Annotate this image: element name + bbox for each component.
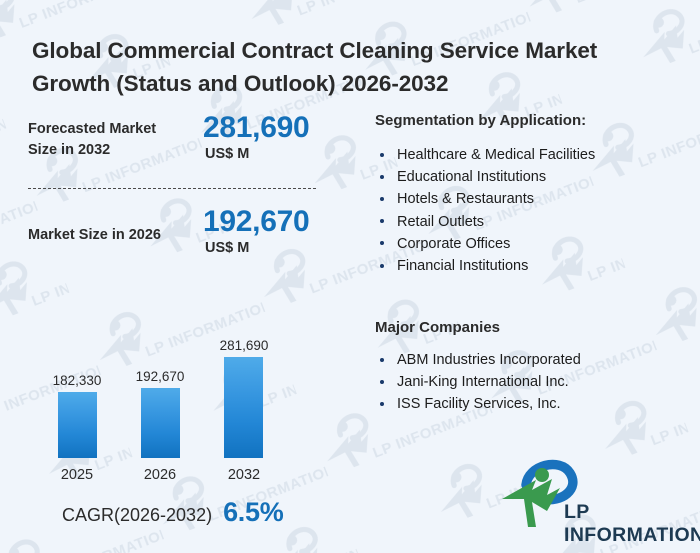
bar-2032 bbox=[224, 357, 263, 458]
current-size-label: Market Size in 2026 bbox=[28, 225, 203, 246]
bar-value-label: 192,670 bbox=[115, 369, 205, 384]
list-item: Corporate Offices bbox=[377, 233, 595, 255]
list-item-label: Corporate Offices bbox=[397, 236, 510, 252]
bullet-icon bbox=[380, 175, 384, 179]
list-item-label: ISS Facility Services, Inc. bbox=[397, 396, 561, 412]
list-item: Jani-King International Inc. bbox=[377, 371, 581, 393]
forecast-size-value: 281,690 bbox=[203, 111, 309, 145]
bullet-icon bbox=[380, 358, 384, 362]
companies-heading: Major Companies bbox=[375, 319, 500, 336]
lp-information-logo: LP INFORMATION bbox=[498, 459, 688, 531]
logo-wordmark: LP INFORMATION bbox=[564, 501, 700, 547]
list-item: Financial Institutions bbox=[377, 255, 595, 277]
cagr-value: 6.5% bbox=[223, 497, 283, 528]
bar-value-label: 281,690 bbox=[199, 338, 289, 353]
list-item-label: ABM Industries Incorporated bbox=[397, 352, 581, 368]
list-item-label: Healthcare & Medical Facilities bbox=[397, 147, 595, 163]
list-item: ABM Industries Incorporated bbox=[377, 349, 581, 371]
list-item: Retail Outlets bbox=[377, 211, 595, 233]
bar-category-label: 2025 bbox=[32, 467, 122, 483]
current-size-value: 192,670 bbox=[203, 205, 309, 239]
list-item-label: Retail Outlets bbox=[397, 214, 484, 230]
list-item: ISS Facility Services, Inc. bbox=[377, 393, 581, 415]
list-item-label: Financial Institutions bbox=[397, 258, 528, 274]
infographic-canvas: LP INFORMATION Global Commercial Contrac… bbox=[0, 0, 700, 553]
segmentation-heading: Segmentation by Application: bbox=[375, 112, 586, 129]
segmentation-list: Healthcare & Medical Facilities Educatio… bbox=[377, 144, 595, 277]
list-item-label: Hotels & Restaurants bbox=[397, 191, 534, 207]
current-size-unit: US$ M bbox=[205, 240, 249, 256]
cagr-row: CAGR(2026-2032) 6.5% bbox=[62, 497, 283, 528]
market-size-bar-chart: 182,330 192,670 281,690 2025 2026 2032 bbox=[0, 330, 340, 485]
stat-divider bbox=[28, 188, 316, 189]
list-item: Hotels & Restaurants bbox=[377, 188, 595, 210]
bullet-icon bbox=[380, 402, 384, 406]
bullet-icon bbox=[380, 197, 384, 201]
bullet-icon bbox=[380, 264, 384, 268]
list-item: Healthcare & Medical Facilities bbox=[377, 144, 595, 166]
bullet-icon bbox=[380, 241, 384, 245]
cagr-label: CAGR(2026-2032) bbox=[62, 505, 212, 526]
bullet-icon bbox=[380, 380, 384, 384]
bullet-icon bbox=[380, 219, 384, 223]
companies-list: ABM Industries Incorporated Jani-King In… bbox=[377, 349, 581, 416]
list-item: Educational Institutions bbox=[377, 166, 595, 188]
forecast-size-unit: US$ M bbox=[205, 146, 249, 162]
bar-2025 bbox=[58, 392, 97, 458]
bar-value-label: 182,330 bbox=[32, 373, 122, 388]
forecast-size-label: Forecasted Market Size in 2032 bbox=[28, 119, 188, 161]
bar-category-label: 2026 bbox=[115, 467, 205, 483]
list-item-label: Jani-King International Inc. bbox=[397, 374, 569, 390]
list-item-label: Educational Institutions bbox=[397, 169, 546, 185]
page-title: Global Commercial Contract Cleaning Serv… bbox=[32, 34, 657, 100]
bar-2026 bbox=[141, 388, 180, 458]
bar-category-label: 2032 bbox=[199, 467, 289, 483]
bullet-icon bbox=[380, 153, 384, 157]
